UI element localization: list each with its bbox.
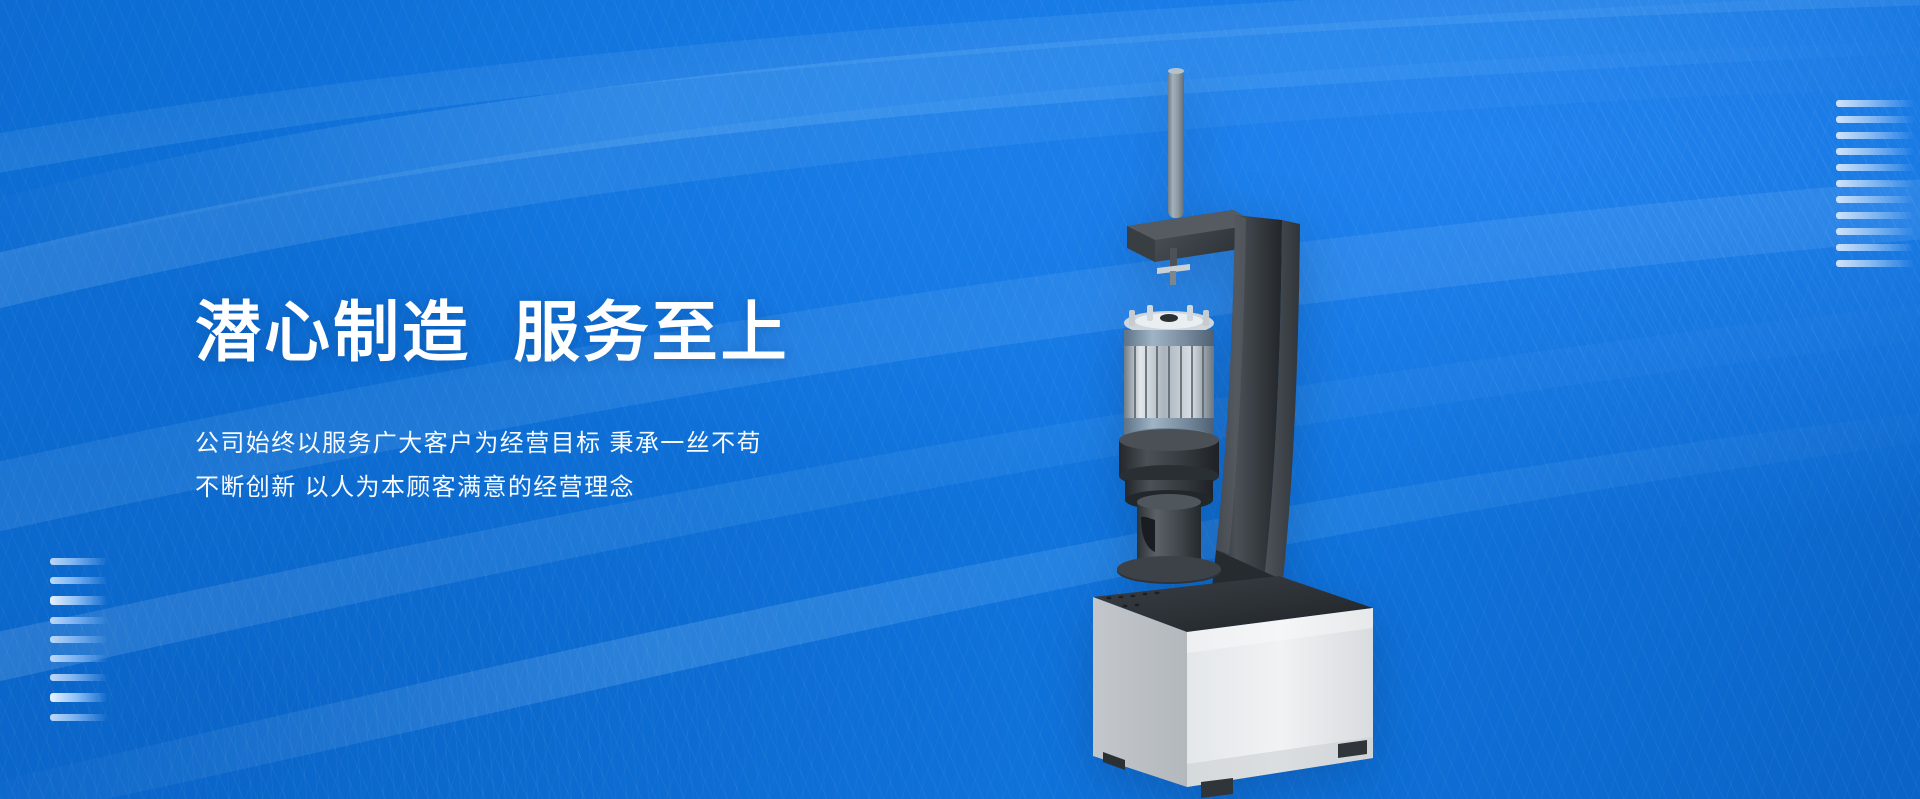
decor-bar	[50, 596, 108, 605]
hero-banner: 潜心制造 服务至上 公司始终以服务广大客户为经营目标 秉承一丝不苟 不断创新 以…	[0, 0, 1920, 799]
ridged-cylinder-head-icon	[1124, 305, 1214, 448]
cylinder-ridges	[1135, 346, 1203, 420]
decor-bar	[50, 655, 108, 662]
hero-subtitle: 公司始终以服务广大客户为经营目标 秉承一丝不苟 不断创新 以人为本顾客满意的经营…	[195, 422, 790, 510]
vertical-rod-icon	[1168, 68, 1184, 218]
decor-bar	[50, 693, 108, 702]
decor-bar	[1836, 132, 1914, 139]
decor-bar	[50, 617, 108, 624]
subtitle-line: 公司始终以服务广大客户为经营目标 秉承一丝不苟	[195, 422, 790, 466]
decor-bar	[50, 674, 108, 681]
base-hub-icon	[1117, 494, 1221, 584]
decor-bar	[1836, 212, 1914, 219]
decor-bars-right	[1828, 100, 1914, 267]
decor-bar	[50, 714, 108, 721]
decor-bar	[50, 558, 108, 565]
hero-copy: 潜心制造 服务至上 公司始终以服务广大客户为经营目标 秉承一丝不苟 不断创新 以…	[195, 296, 790, 510]
decor-bar	[1836, 196, 1914, 203]
decor-bar	[1836, 260, 1914, 267]
decor-bar	[50, 636, 108, 643]
decor-bar	[50, 577, 108, 584]
cabinet-base-icon	[1093, 576, 1373, 787]
decor-bar	[1836, 180, 1914, 187]
decor-bars-left	[50, 558, 112, 721]
product-image-vertical-test-machine	[1083, 52, 1383, 799]
decor-bar	[1836, 164, 1914, 171]
decor-bar	[1836, 100, 1914, 107]
decor-bar	[1836, 116, 1914, 123]
decor-bar	[1836, 148, 1914, 155]
decor-bar	[1836, 228, 1914, 235]
page-title: 潜心制造 服务至上	[195, 296, 790, 370]
curved-column-icon	[1211, 215, 1300, 597]
decor-bar	[1836, 244, 1914, 251]
subtitle-line: 不断创新 以人为本顾客满意的经营理念	[195, 466, 790, 510]
